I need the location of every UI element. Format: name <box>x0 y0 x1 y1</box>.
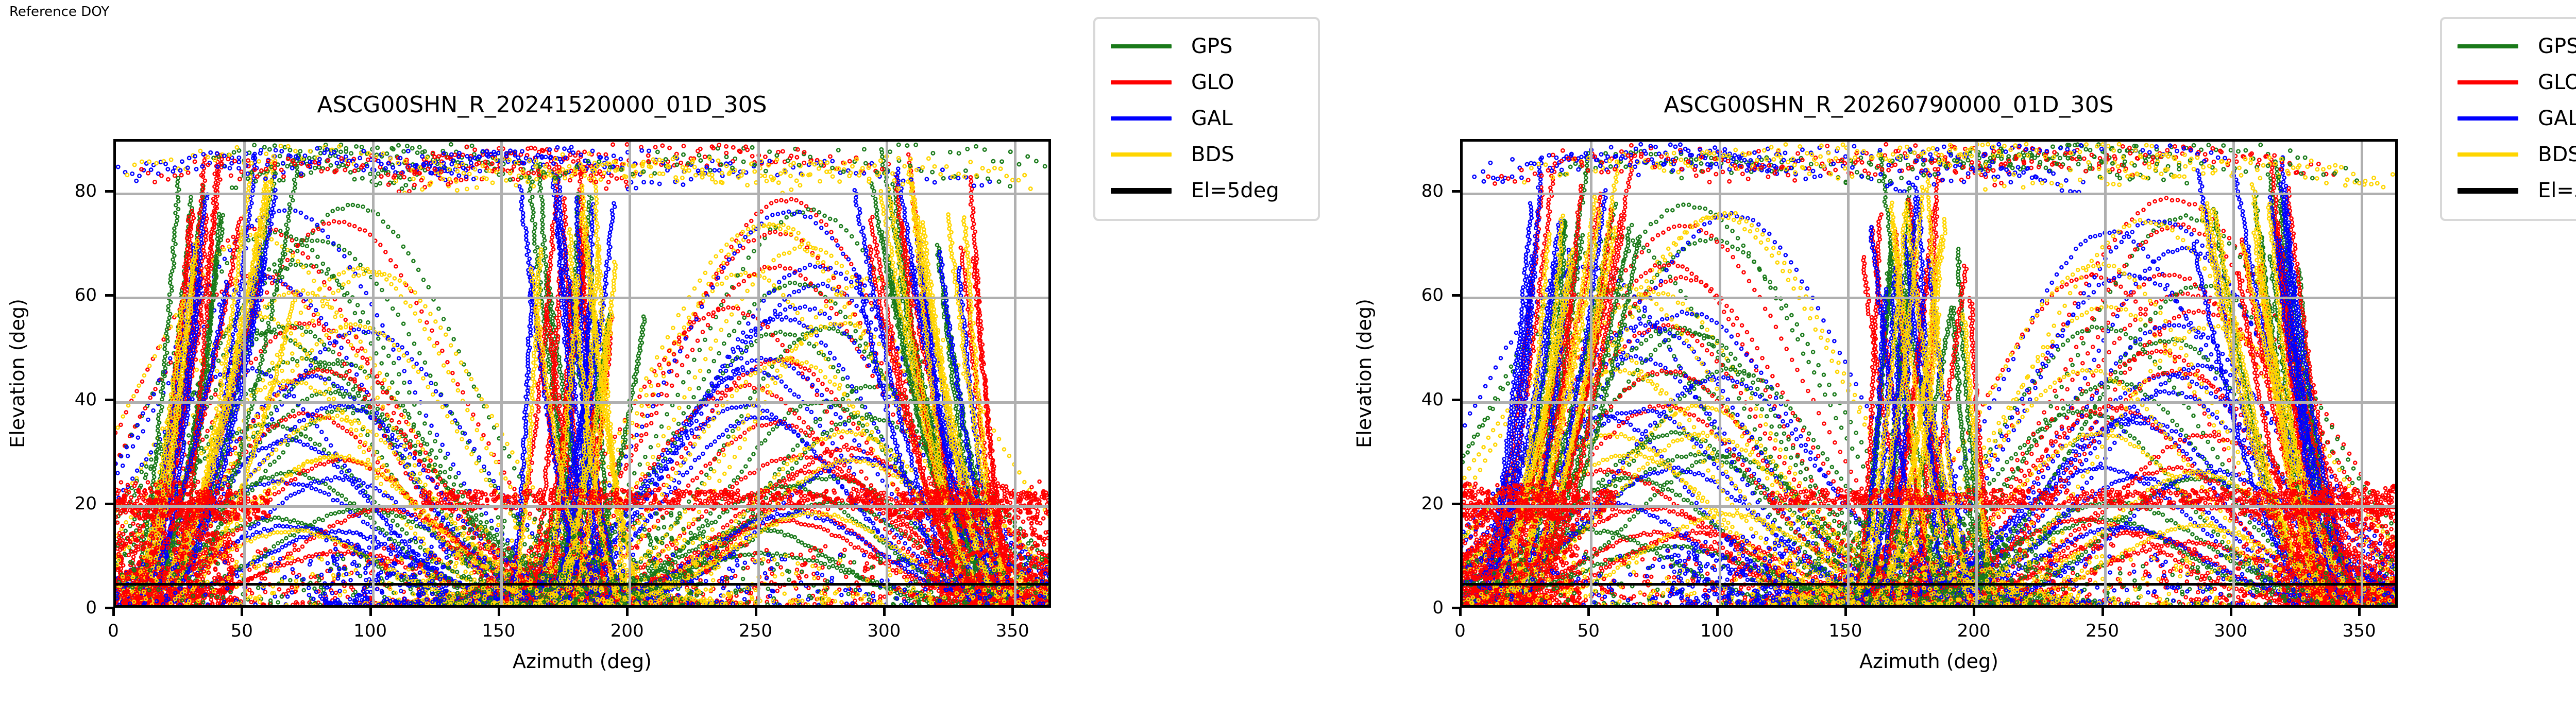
y-axis-tick <box>105 190 113 193</box>
x-axis-tick-label: 100 <box>353 621 387 641</box>
legend-item-label: GAL <box>2538 107 2576 130</box>
gridline-vertical <box>886 142 888 605</box>
elevation-mask-line <box>1463 583 2395 586</box>
x-axis-tick-label: 50 <box>1578 621 1600 641</box>
legend-item-gps[interactable]: GPS <box>1095 28 1318 64</box>
gridline-vertical <box>1719 142 1721 605</box>
y-axis-tick-label: 20 <box>75 493 97 514</box>
legend-item-label: El=5deg <box>1191 179 1279 202</box>
satellite-tracks-svg <box>116 142 1048 605</box>
legend-swatch-icon <box>1111 188 1172 194</box>
x-axis-tick <box>2102 608 2104 616</box>
legend-swatch-icon <box>1111 152 1172 157</box>
elevation-mask-line <box>116 583 1048 586</box>
gridline-vertical <box>1975 142 1978 605</box>
y-axis-tick-label: 40 <box>75 389 97 410</box>
legend-left: GPSGLOGALBDSEl=5deg <box>1093 17 1320 221</box>
x-axis-tick <box>1973 608 1975 616</box>
x-axis-tick-label: 0 <box>108 621 119 641</box>
y-axis-tick <box>105 399 113 401</box>
y-axis-tick-label: 0 <box>1432 597 1444 618</box>
x-axis-tick <box>1844 608 1847 616</box>
x-axis-tick <box>626 608 629 616</box>
legend-swatch-icon <box>2458 80 2518 84</box>
gridline-vertical <box>500 142 503 605</box>
legend-swatch-icon <box>1111 116 1172 121</box>
x-axis-tick-label: 100 <box>1700 621 1734 641</box>
x-axis-label-right: Azimuth (deg) <box>1460 650 2398 673</box>
x-axis-tick <box>1716 608 1719 616</box>
x-axis-tick-label: 350 <box>996 621 1029 641</box>
y-axis-tick-label: 40 <box>1421 389 1444 410</box>
y-axis-tick-label: 80 <box>75 181 97 201</box>
legend-item-label: GPS <box>1191 35 1233 58</box>
y-axis-tick <box>105 607 113 609</box>
gridline-horizontal <box>1463 505 2395 508</box>
y-axis-tick-label: 0 <box>86 597 97 618</box>
legend-item-glo[interactable]: GLO <box>2442 64 2576 100</box>
x-axis-tick <box>369 608 372 616</box>
x-axis-tick <box>1587 608 1590 616</box>
gridline-horizontal <box>1463 193 2395 195</box>
legend-item-label: BDS <box>1191 143 1234 166</box>
y-axis-tick-label: 60 <box>1421 285 1444 305</box>
legend-item-bds[interactable]: BDS <box>1095 136 1318 173</box>
chart-title-right: ASCG00SHN_R_20260790000_01D_30S <box>1347 92 2576 118</box>
gridline-vertical <box>629 142 631 605</box>
x-axis-tick <box>1011 608 1014 616</box>
y-axis-tick <box>1452 190 1460 193</box>
x-axis-tick <box>2230 608 2232 616</box>
x-axis-tick-label: 150 <box>1828 621 1862 641</box>
legend-item-label: GLO <box>1191 71 1234 94</box>
x-axis-tick-label: 300 <box>867 621 901 641</box>
y-axis-tick <box>1452 294 1460 297</box>
x-axis-tick-label: 200 <box>1957 621 1991 641</box>
legend-item-bds[interactable]: BDS <box>2442 136 2576 173</box>
x-axis-tick <box>241 608 243 616</box>
chart-panel-right: ASCG00SHN_R_20260790000_01D_30S Azimuth … <box>1347 0 2576 720</box>
legend-item-el-5deg[interactable]: El=5deg <box>1095 173 1318 209</box>
gridline-vertical <box>757 142 760 605</box>
x-axis-tick-label: 150 <box>482 621 515 641</box>
y-axis-tick <box>105 503 113 505</box>
x-axis-label-left: Azimuth (deg) <box>113 650 1051 673</box>
x-axis-tick <box>498 608 500 616</box>
gridline-vertical <box>243 142 246 605</box>
gridline-vertical <box>1590 142 1592 605</box>
y-axis-tick-label: 80 <box>1421 181 1444 201</box>
x-axis-tick-label: 50 <box>231 621 253 641</box>
gridline-vertical <box>2232 142 2235 605</box>
y-axis-label-right: Elevation (deg) <box>1353 299 1376 448</box>
gridline-vertical <box>2361 142 2363 605</box>
y-axis-tick <box>1452 399 1460 401</box>
legend-item-glo[interactable]: GLO <box>1095 64 1318 100</box>
legend-item-gal[interactable]: GAL <box>2442 100 2576 136</box>
satellite-tracks-svg <box>1463 142 2395 605</box>
y-axis-label-left: Elevation (deg) <box>6 299 29 448</box>
legend-swatch-icon <box>2458 44 2518 48</box>
gridline-vertical <box>372 142 375 605</box>
plot-canvas-left <box>116 142 1048 605</box>
x-axis-tick-label: 250 <box>2086 621 2119 641</box>
legend-item-label: GAL <box>1191 107 1233 130</box>
plot-area-right <box>1460 139 2398 608</box>
y-axis-tick <box>105 294 113 297</box>
y-axis-tick-label: 20 <box>1421 493 1444 514</box>
legend-item-label: El=5deg <box>2538 179 2576 202</box>
gridline-horizontal <box>1463 297 2395 299</box>
gridline-vertical <box>1014 142 1016 605</box>
gridline-horizontal <box>116 297 1048 299</box>
gridline-horizontal <box>116 401 1048 404</box>
x-axis-tick <box>2358 608 2361 616</box>
legend-item-label: BDS <box>2538 143 2576 166</box>
legend-swatch-icon <box>2458 188 2518 194</box>
legend-item-el-5deg[interactable]: El=5deg <box>2442 173 2576 209</box>
legend-item-label: GPS <box>2538 35 2576 58</box>
x-axis-tick-label: 350 <box>2343 621 2376 641</box>
gridline-vertical <box>1847 142 1850 605</box>
legend-swatch-icon <box>2458 152 2518 157</box>
x-axis-tick-label: 200 <box>611 621 644 641</box>
gridline-horizontal <box>1463 401 2395 404</box>
y-axis-tick <box>1452 503 1460 505</box>
y-axis-tick <box>1452 607 1460 609</box>
chart-panel-left: ASCG00SHN_R_20241520000_01D_30S Azimuth … <box>0 0 1347 720</box>
gridline-horizontal <box>116 505 1048 508</box>
plot-canvas-right <box>1463 142 2395 605</box>
plot-area-left <box>113 139 1051 608</box>
legend-swatch-icon <box>1111 80 1172 84</box>
legend-swatch-icon <box>2458 116 2518 121</box>
y-axis-tick-label: 60 <box>75 285 97 305</box>
legend-right: GPSGLOGALBDSEl=5deg <box>2440 17 2576 221</box>
legend-item-gal[interactable]: GAL <box>1095 100 1318 136</box>
legend-item-label: GLO <box>2538 71 2576 94</box>
legend-swatch-icon <box>1111 44 1172 48</box>
legend-item-gps[interactable]: GPS <box>2442 28 2576 64</box>
x-axis-tick-label: 0 <box>1454 621 1466 641</box>
gridline-vertical <box>2104 142 2107 605</box>
gridline-horizontal <box>116 193 1048 195</box>
x-axis-tick-label: 250 <box>739 621 772 641</box>
x-axis-tick <box>755 608 757 616</box>
x-axis-tick-label: 300 <box>2214 621 2247 641</box>
x-axis-tick <box>883 608 886 616</box>
